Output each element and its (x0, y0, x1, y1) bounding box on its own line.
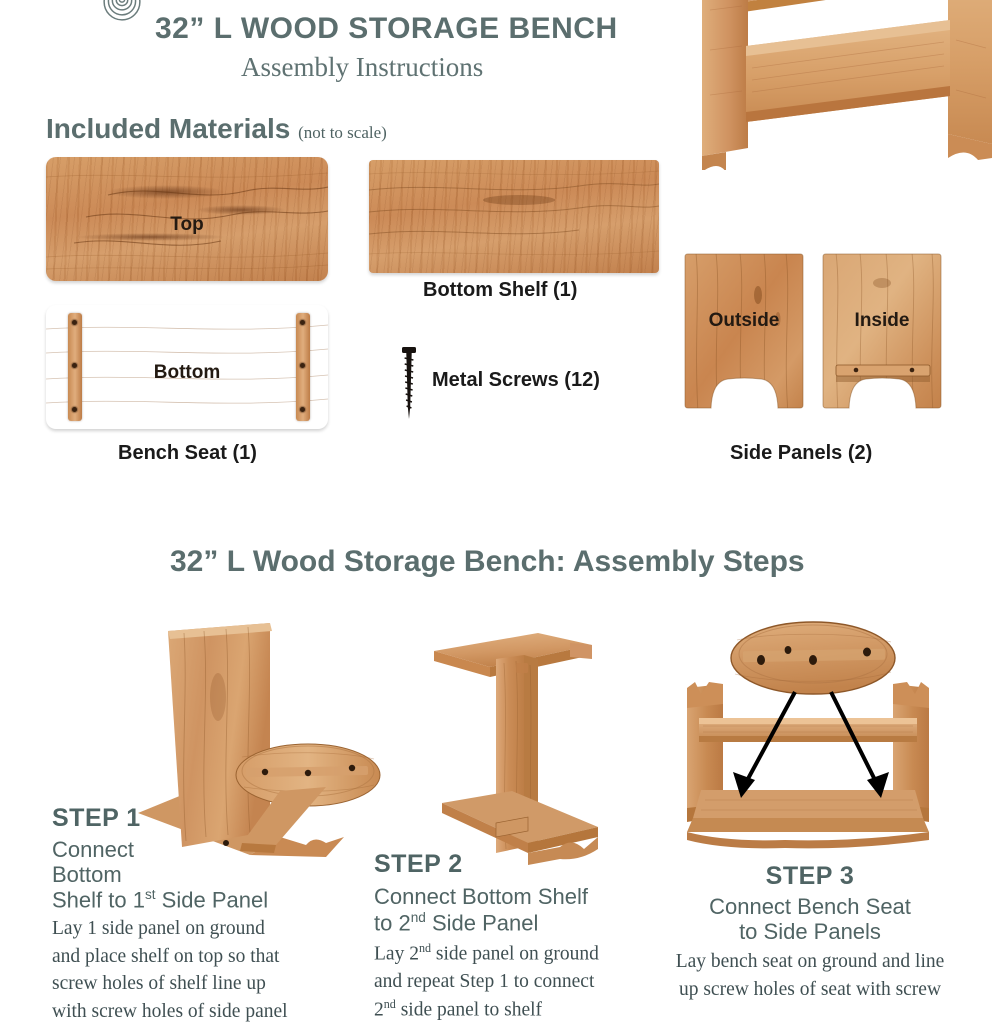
materials-heading-text: Included Materials (46, 113, 290, 144)
step-2-body-line-1: Lay 2nd side panel on ground (374, 940, 674, 968)
page-subtitle: Assembly Instructions (241, 52, 483, 83)
step-1-body-line-2: and place shelf on top so that (52, 943, 352, 971)
step-2-body-line-3: 2nd side panel to shelf (374, 996, 674, 1024)
side-panel-outside-svg (682, 253, 806, 430)
step-3-title: Connect Bench Seat to Side Panels (655, 895, 965, 944)
assembly-steps-heading: 32” L Wood Storage Bench: Assembly Steps (170, 545, 805, 579)
material-bottom-shelf-board (369, 160, 659, 273)
step-1-body-line-3: screw holes of shelf line up (52, 970, 352, 998)
caption-metal-screws: Metal Screws (12) (432, 369, 600, 392)
cleat-left (68, 313, 82, 421)
bottom-shelf-grain (369, 160, 659, 273)
step1-svg (130, 605, 395, 870)
step-1-title-line-3: Shelf to 1st Side Panel (52, 887, 352, 913)
tree-rings-svg (94, 0, 150, 22)
step2-svg (420, 615, 625, 870)
assembly-arrow-left (733, 692, 795, 798)
step-1-title: Connect Bottom Shelf to 1st Side Panel (52, 838, 352, 913)
step-3-body: Lay bench seat on ground and line up scr… (655, 948, 965, 1003)
step-1-body: Lay 1 side panel on ground and place she… (52, 915, 352, 1026)
step-1-title-line-1: Connect (52, 838, 352, 863)
step-3-title-line-2: to Side Panels (655, 920, 965, 945)
step-1-number: STEP 1 (52, 804, 141, 833)
caption-bench-seat: Bench Seat (1) (118, 442, 257, 465)
caption-side-panels: Side Panels (2) (730, 442, 872, 465)
caption-bottom-shelf: Bottom Shelf (1) (423, 279, 577, 302)
step-3-body-line-2: up screw holes of seat with screw (655, 976, 965, 1004)
board-label-outside: Outside (709, 310, 780, 332)
step-2-body: Lay 2nd side panel on ground and repeat … (374, 940, 674, 1024)
step-1-body-line-1: Lay 1 side panel on ground (52, 915, 352, 943)
material-seat-top-board: Top (46, 157, 328, 281)
assembly-arrow-right (831, 692, 889, 798)
hero-bench-svg (660, 0, 1000, 170)
materials-heading-note: (not to scale) (298, 123, 387, 142)
side-panel-inside-svg (820, 253, 944, 430)
step-3-number: STEP 3 (665, 862, 955, 891)
board-label-top: Top (170, 214, 203, 236)
step-2-title: Connect Bottom Shelf to 2nd Side Panel (374, 885, 674, 936)
step1-illustration (130, 605, 395, 870)
page-title: 32” L WOOD STORAGE BENCH (155, 12, 618, 46)
step-2-body-line-2: and repeat Step 1 to connect (374, 968, 674, 996)
included-materials-heading: Included Materials (not to scale) (46, 113, 387, 145)
material-seat-bottom-board: Bottom (46, 305, 328, 429)
cleat-right (296, 313, 310, 421)
screw-svg (396, 345, 422, 423)
step-2-title-line-2: to 2nd Side Panel (374, 910, 674, 936)
board-label-bottom: Bottom (154, 362, 220, 384)
step3-illustration (665, 612, 955, 857)
hero-bench-photo (660, 0, 1000, 170)
step-2-number: STEP 2 (374, 850, 463, 879)
step2-illustration (420, 615, 625, 870)
step-1-title-line-2: Bottom (52, 863, 352, 888)
material-side-panel-outside: Outside (682, 253, 806, 430)
step-2-title-line-1: Connect Bottom Shelf (374, 885, 674, 910)
material-side-panel-inside: Inside (820, 253, 944, 430)
step-3-body-line-1: Lay bench seat on ground and line (655, 948, 965, 976)
board-label-inside: Inside (855, 310, 910, 332)
step-1-body-line-4: with screw holes of side panel (52, 998, 352, 1026)
step-3-title-line-1: Connect Bench Seat (655, 895, 965, 920)
screw-icon (396, 345, 422, 428)
tree-rings-logo-icon (94, 0, 150, 27)
step3-svg (665, 612, 955, 857)
